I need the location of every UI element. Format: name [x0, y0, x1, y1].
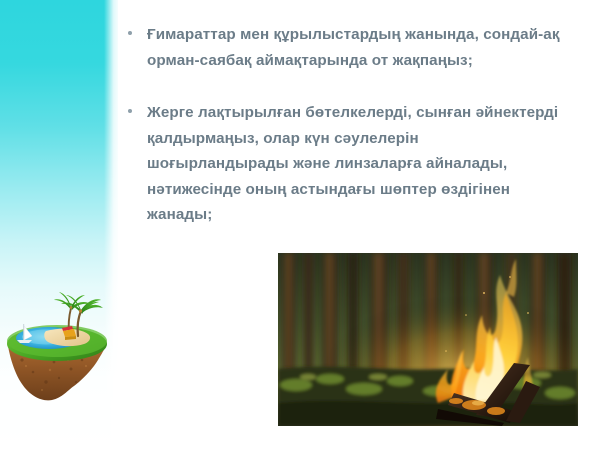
- list-item: Ғимараттар мен құрылыстардың жанында, со…: [122, 22, 562, 73]
- floating-island-illustration: [2, 274, 114, 402]
- slide-body-text: Ғимараттар мен құрылыстардың жанында, со…: [122, 22, 562, 228]
- bullet-marker: [128, 109, 132, 113]
- list-item: Жерге лақтырылған бөтелкелерді, сынған ә…: [122, 100, 562, 228]
- bullet-text: Жерге лақтырылған бөтелкелерді, сынған ә…: [147, 100, 562, 228]
- campfire-in-forest-photo: [278, 253, 578, 426]
- slide: Ғимараттар мен құрылыстардың жанында, со…: [0, 0, 600, 450]
- bullet-text: Ғимараттар мен құрылыстардың жанында, со…: [147, 22, 562, 73]
- bullet-marker: [128, 31, 132, 35]
